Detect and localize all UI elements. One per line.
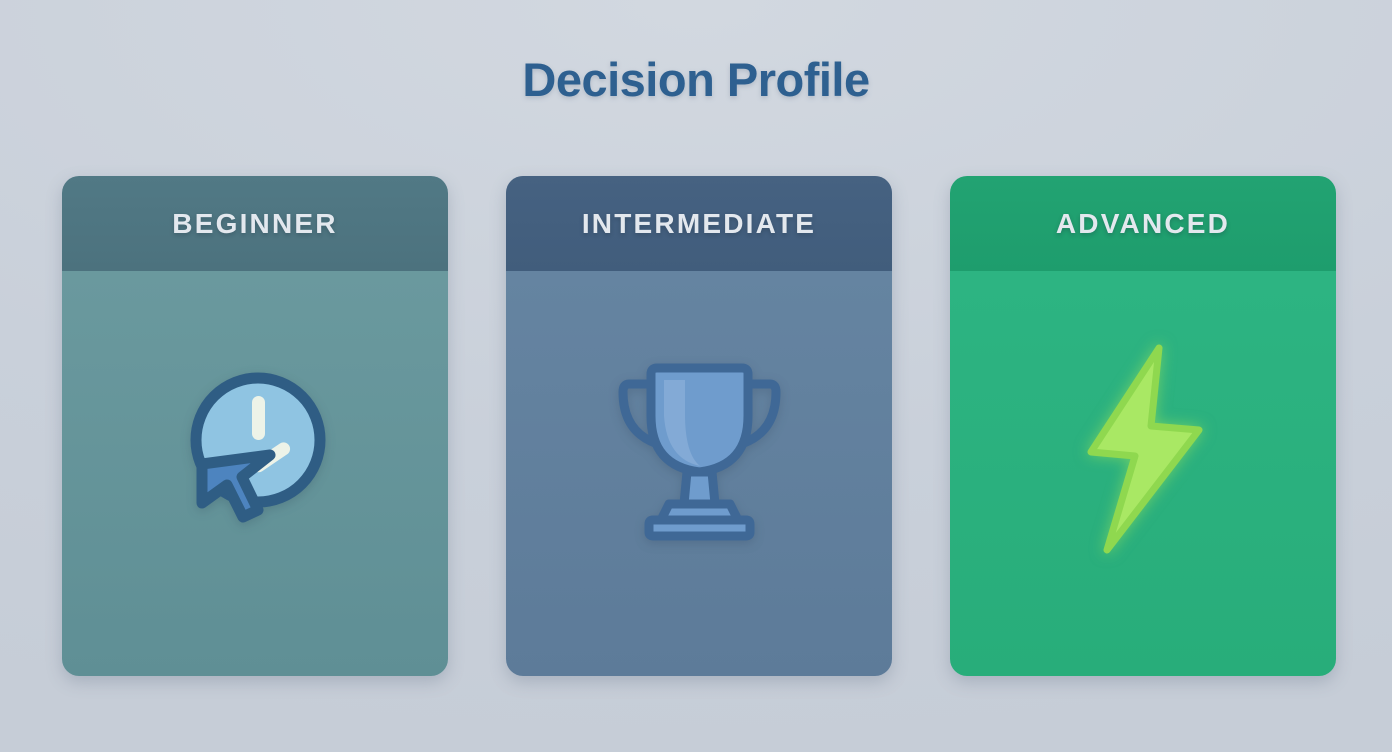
page-title: Decision Profile <box>0 52 1392 107</box>
trophy-icon <box>599 349 799 549</box>
clock-cursor-icon <box>155 349 355 549</box>
card-label-advanced: ADVANCED <box>1056 208 1230 240</box>
card-header-advanced: ADVANCED <box>950 176 1336 271</box>
profile-card-row: BEGINNER <box>62 176 1336 676</box>
card-header-intermediate: INTERMEDIATE <box>506 176 892 271</box>
card-label-intermediate: INTERMEDIATE <box>582 208 816 240</box>
card-header-beginner: BEGINNER <box>62 176 448 271</box>
card-body-intermediate <box>506 271 892 676</box>
card-body-beginner <box>62 271 448 676</box>
lightning-bolt-icon <box>1043 349 1243 549</box>
profile-card-beginner[interactable]: BEGINNER <box>62 176 448 676</box>
profile-card-intermediate[interactable]: INTERMEDIATE <box>506 176 892 676</box>
profile-card-advanced[interactable]: ADVANCED <box>950 176 1336 676</box>
profile-page: Decision Profile BEGINNER <box>0 0 1392 752</box>
card-body-advanced <box>950 271 1336 676</box>
card-label-beginner: BEGINNER <box>172 208 337 240</box>
